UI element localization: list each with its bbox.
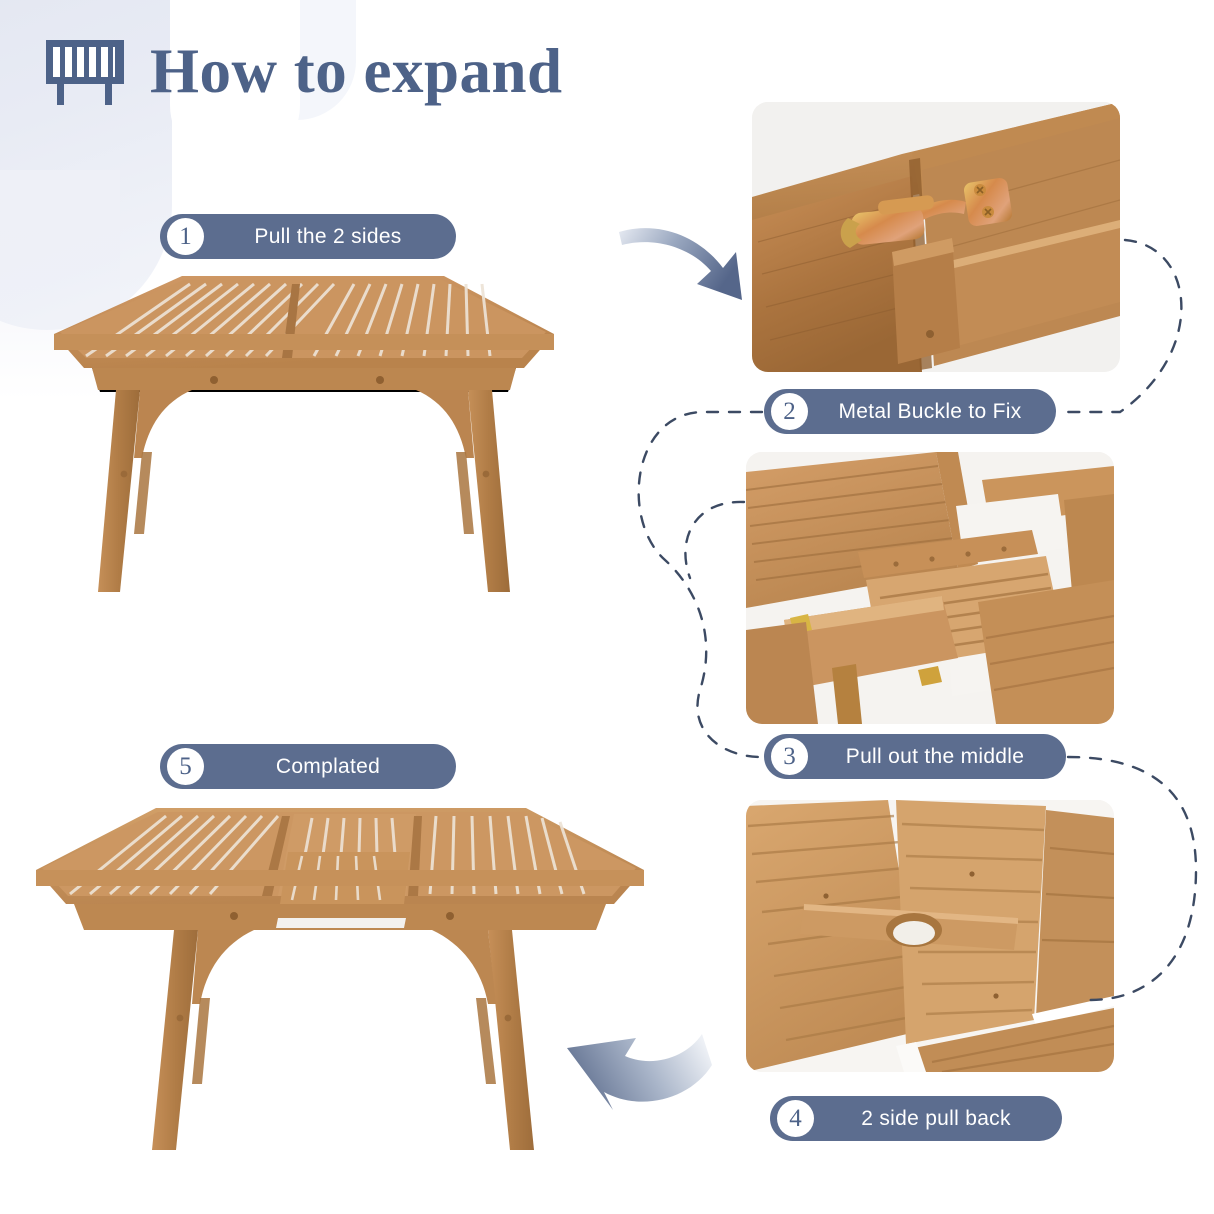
step-pill-2[interactable]: 2 Metal Buckle to Fix [764, 389, 1056, 434]
step-number-2: 2 [771, 393, 808, 430]
arrow-to-step-1-photo [619, 228, 742, 300]
step-pill-3[interactable]: 3 Pull out the middle [764, 734, 1066, 779]
step-pill-1[interactable]: 1 Pull the 2 sides [160, 214, 456, 259]
dashed-path-step-3-to-4 [685, 502, 744, 578]
step-label-1: Pull the 2 sides [204, 225, 452, 249]
photo-middle-leaf-mechanism [746, 452, 1114, 724]
step-label-3: Pull out the middle [808, 745, 1062, 769]
step-label-5: Complated [204, 755, 452, 779]
page-header: How to expand [44, 36, 563, 106]
photo-tabletop-umbrella-hole [746, 800, 1114, 1072]
middle-leaf-top [278, 814, 416, 904]
infographic-page: How to expand [0, 0, 1214, 1214]
step-label-2: Metal Buckle to Fix [808, 400, 1052, 424]
photo-metal-buckle-closeup [752, 102, 1120, 372]
illustration-table-expanded [26, 792, 666, 1182]
illustration-table-collapsed [24, 262, 584, 632]
step-pill-5[interactable]: 5 Complated [160, 744, 456, 789]
step-number-1: 1 [167, 218, 204, 255]
step-number-3: 3 [771, 738, 808, 775]
page-title: How to expand [150, 40, 563, 103]
table-bench-icon [44, 36, 128, 106]
step-label-4: 2 side pull back [814, 1107, 1058, 1131]
step-number-4: 4 [777, 1100, 814, 1137]
step-number-5: 5 [167, 748, 204, 785]
umbrella-hole [886, 913, 942, 947]
step-pill-4[interactable]: 4 2 side pull back [770, 1096, 1062, 1141]
